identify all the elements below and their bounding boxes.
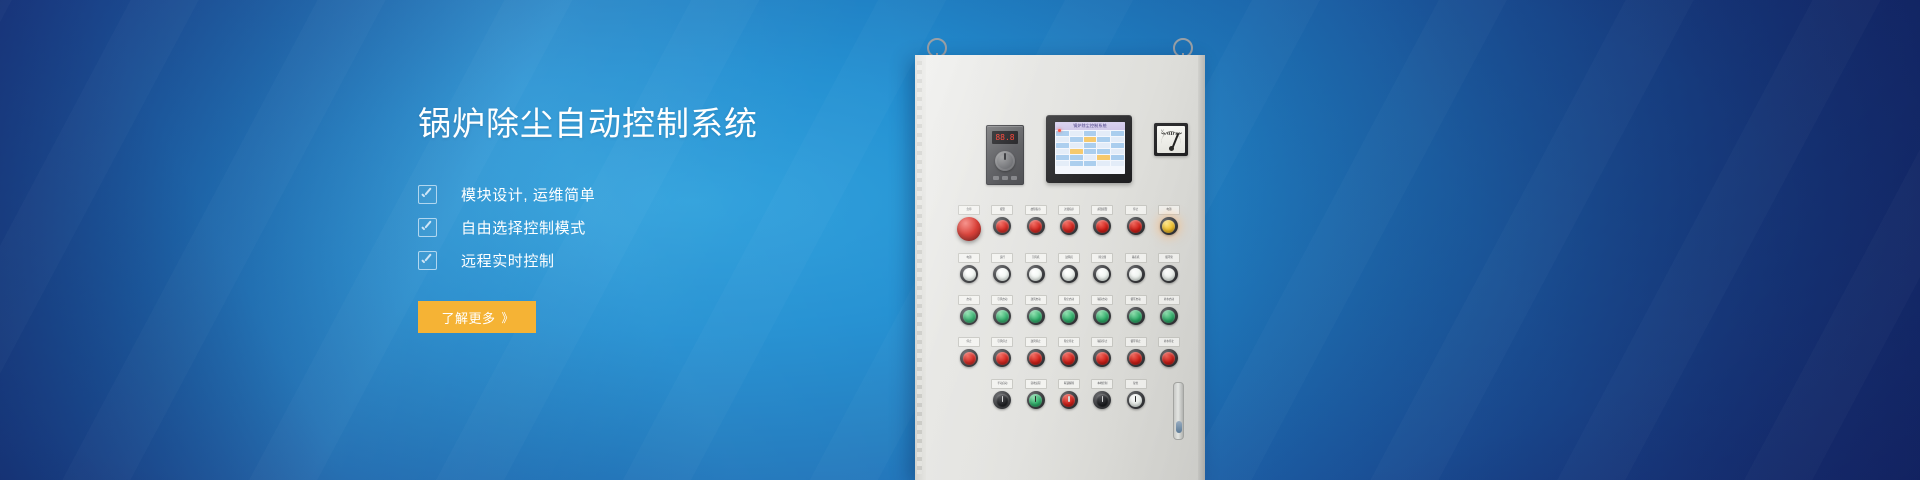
pushbutton-cell: 联锁解除	[1058, 379, 1080, 409]
lamp-cap	[1129, 310, 1142, 323]
pushbutton-cell: 输灰启动	[1091, 295, 1113, 325]
lamp-cap	[1029, 394, 1042, 407]
emergency-stop-button[interactable]	[957, 217, 981, 241]
pushbutton-cell: 报警	[991, 205, 1013, 241]
pushbutton-label: 补水启动	[1158, 295, 1180, 305]
indicator-lamp-button[interactable]	[1127, 217, 1145, 235]
hmi-screen-cell	[1097, 161, 1110, 166]
indicator-lamp-button[interactable]	[1027, 265, 1045, 283]
indicator-lamp-button[interactable]	[1160, 265, 1178, 283]
pushbutton-label: 就地远程	[1025, 379, 1047, 389]
feature-label: 模块设计, 运维简单	[461, 184, 595, 205]
indicator-lamp-button[interactable]	[1060, 265, 1078, 283]
indicator-lamp-button[interactable]	[993, 217, 1011, 235]
cabinet-door-face: 88.8 锅炉除尘控制系统	[926, 55, 1198, 480]
hmi-screen-row	[1056, 143, 1124, 148]
lamp-cap	[1129, 268, 1142, 281]
hmi-screen-cell	[1084, 131, 1097, 136]
lamp-cap	[1096, 220, 1109, 233]
lamp-cap	[996, 220, 1009, 233]
hmi-screen-cell	[1070, 143, 1083, 148]
indicator-lamp-button[interactable]	[1060, 349, 1078, 367]
pushbutton-label: 本地控制	[1091, 379, 1113, 389]
pushbutton-cell: 电源	[1158, 205, 1180, 241]
hmi-screen-cell	[1056, 161, 1069, 166]
lamp-cap	[1096, 310, 1109, 323]
lamp-cap	[1129, 220, 1142, 233]
lamp-cap	[963, 310, 976, 323]
stop-button-row: 停止引风停止鼓风停止除尘停止输灰停止循环停止补水停止	[958, 337, 1180, 367]
pushbutton-label: 引风停止	[991, 337, 1013, 347]
indicator-lamp-button[interactable]	[993, 307, 1011, 325]
lamp-cap	[1062, 220, 1075, 233]
pushbutton-label: 启动	[958, 295, 980, 305]
pushbutton-label: 电源	[1158, 205, 1180, 215]
hmi-screen-cell	[1084, 155, 1097, 160]
checkbox-check-icon	[418, 185, 437, 204]
indicator-lamp-button[interactable]	[993, 349, 1011, 367]
hmi-screen-cell	[1056, 143, 1069, 148]
lamp-cap	[1162, 310, 1175, 323]
indicator-lamp-button[interactable]	[1027, 307, 1045, 325]
cabinet-body: 88.8 锅炉除尘控制系统	[915, 55, 1205, 480]
indicator-lamp-button[interactable]	[960, 307, 978, 325]
indicator-lamp-button[interactable]	[1027, 217, 1045, 235]
hmi-screen-cell	[1070, 161, 1083, 166]
vfd-rotary-knob[interactable]	[995, 151, 1015, 171]
pushbutton-label: 输灰启动	[1091, 295, 1113, 305]
lamp-cap	[1096, 268, 1109, 281]
hmi-screen-cell	[1111, 161, 1124, 166]
pushbutton-label: 输灰机	[1125, 253, 1147, 263]
lamp-cap	[1062, 352, 1075, 365]
learn-more-label: 了解更多	[441, 308, 495, 327]
pushbutton-cell: 停止	[1125, 205, 1147, 241]
pushbutton-label: 联锁解除	[1058, 379, 1080, 389]
pushbutton-cell: 复位	[1125, 379, 1147, 409]
pushbutton-label: 引风机	[1025, 253, 1047, 263]
lamp-cap	[1162, 220, 1175, 233]
hmi-screen-cell	[1084, 137, 1097, 142]
hmi-screen-cell	[1097, 131, 1110, 136]
lamp-cap	[1129, 394, 1142, 407]
hmi-screen-cell	[1097, 155, 1110, 160]
pushbutton-cell: 鼓风停止	[1025, 337, 1047, 367]
lamp-cap	[996, 352, 1009, 365]
vfd-display-module[interactable]: 88.8	[986, 125, 1024, 185]
indicator-lamp-button[interactable]	[1027, 349, 1045, 367]
vfd-value: 88.8	[995, 134, 1014, 142]
pushbutton-cell: 循环启动	[1125, 295, 1147, 325]
feature-item-2: 自由选择控制模式	[418, 211, 938, 244]
indicator-lamp-button[interactable]	[1060, 307, 1078, 325]
indicator-lamp-button[interactable]	[1160, 217, 1178, 235]
selector-switch[interactable]	[1027, 391, 1045, 409]
hmi-screen-cell	[1097, 137, 1110, 142]
analog-meter: V	[1154, 123, 1188, 156]
lamp-cap	[1029, 352, 1042, 365]
indicator-lamp-button[interactable]	[1160, 349, 1178, 367]
lamp-cap	[1162, 268, 1175, 281]
pushbutton-label: 除尘器	[1091, 253, 1113, 263]
lamp-cap	[1062, 394, 1075, 407]
pushbutton-cell: 鼓风机	[1058, 253, 1080, 283]
vfd-button[interactable]	[1011, 176, 1017, 180]
pushbutton-cell: 引风机	[1025, 253, 1047, 283]
pushbutton-cell: 电源	[958, 253, 980, 283]
pushbutton-label: 手动自动	[991, 379, 1013, 389]
lamp-cap	[1029, 310, 1042, 323]
feature-item-3: 远程实时控制	[418, 244, 938, 277]
selector-switch[interactable]	[1127, 391, 1145, 409]
pushbutton-cell: 手动自动	[991, 379, 1013, 409]
indicator-lamp-button[interactable]	[1093, 217, 1111, 235]
power-indicator-row: 电源运行引风机鼓风机除尘器输灰机循环泵	[958, 253, 1180, 283]
lamp-cap	[1062, 268, 1075, 281]
indicator-lamp-button[interactable]	[1093, 307, 1111, 325]
pushbutton-label: 电源	[958, 253, 980, 263]
pushbutton-label: 引风启动	[991, 295, 1013, 305]
start-button-row: 启动引风启动鼓风启动除尘启动输灰启动循环启动补水启动	[958, 295, 1180, 325]
feature-label: 自由选择控制模式	[461, 217, 586, 238]
feature-list: 模块设计, 运维简单 自由选择控制模式 远程实时控制	[418, 178, 938, 277]
vfd-screen: 88.8	[992, 131, 1018, 144]
pushbutton-label: 停止	[958, 337, 980, 347]
indicator-lamp-button[interactable]	[1093, 349, 1111, 367]
lamp-cap	[1062, 310, 1075, 323]
indicator-lamp-button[interactable]	[1127, 307, 1145, 325]
pushbutton-label: 故障指示	[1025, 205, 1047, 215]
pushbutton-cell: 故障指示	[1025, 205, 1047, 241]
pushbutton-label: 鼓风机	[1058, 253, 1080, 263]
hmi-screen-cell	[1111, 137, 1124, 142]
selector-switch[interactable]	[993, 391, 1011, 409]
pushbutton-cell: 急停	[958, 205, 980, 241]
hmi-screen-title: 锅炉除尘控制系统	[1055, 122, 1125, 130]
hmi-screen-cell	[1111, 143, 1124, 148]
pushbutton-label: 运行	[991, 253, 1013, 263]
feature-item-1: 模块设计, 运维简单	[418, 178, 938, 211]
meter-hub	[1169, 146, 1174, 151]
hmi-screen-row	[1056, 155, 1124, 160]
pushbutton-label: 停止	[1125, 205, 1147, 215]
hmi-screen-cell	[1097, 143, 1110, 148]
hmi-screen-row	[1056, 131, 1124, 136]
pushbutton-label: 循环泵	[1158, 253, 1180, 263]
lamp-cap	[1129, 352, 1142, 365]
meter-tick	[1179, 132, 1182, 134]
pushbutton-cell: 鼓风启动	[1025, 295, 1047, 325]
pushbutton-label: 过载指示	[1058, 205, 1080, 215]
pushbutton-label: 复位	[1125, 379, 1147, 389]
pushbutton-cell: 本地控制	[1091, 379, 1113, 409]
pushbutton-cell: 除尘停止	[1058, 337, 1080, 367]
pushbutton-label: 除尘启动	[1058, 295, 1080, 305]
pushbutton-label: 补水停止	[1158, 337, 1180, 347]
pushbutton-label: 报警	[991, 205, 1013, 215]
selector-switch[interactable]	[1093, 391, 1111, 409]
indicator-lamp-button[interactable]	[1127, 349, 1145, 367]
lamp-cap	[1096, 352, 1109, 365]
indicator-lamp-button[interactable]	[1060, 217, 1078, 235]
pushbutton-label: 循环停止	[1125, 337, 1147, 347]
pushbutton-cell: 循环停止	[1125, 337, 1147, 367]
pushbutton-label: 鼓风启动	[1025, 295, 1047, 305]
indicator-lamp-button[interactable]	[1127, 265, 1145, 283]
indicator-lamp-button[interactable]	[960, 265, 978, 283]
pushbutton-cell: 引风停止	[991, 337, 1013, 367]
lamp-cap	[963, 352, 976, 365]
pushbutton-cell: 超温报警	[1091, 205, 1113, 241]
hmi-screen-cell	[1070, 155, 1083, 160]
indicator-lamp-button[interactable]	[993, 265, 1011, 283]
meter-tick	[1168, 132, 1170, 135]
lamp-cap	[1029, 268, 1042, 281]
hmi-screen-body	[1055, 130, 1125, 174]
pushbutton-cell: 引风启动	[991, 295, 1013, 325]
selector-switch-row: 手动自动就地远程联锁解除本地控制复位	[958, 379, 1180, 409]
pushbutton-cell: 补水启动	[1158, 295, 1180, 325]
learn-more-button[interactable]: 了解更多 》	[418, 301, 536, 333]
pushbutton-label: 循环启动	[1125, 295, 1147, 305]
hmi-screen-cell	[1056, 137, 1069, 142]
cabinet-right-edge	[1198, 55, 1205, 480]
pushbutton-cell: 除尘器	[1091, 253, 1113, 283]
hmi-touchscreen[interactable]: 锅炉除尘控制系统	[1046, 115, 1132, 183]
checkbox-check-icon	[418, 218, 437, 237]
pushbutton-cell: 输灰停止	[1091, 337, 1113, 367]
hmi-screen-cell	[1111, 155, 1124, 160]
hmi-screen-row	[1056, 137, 1124, 142]
checkbox-check-icon	[418, 251, 437, 270]
hero-banner: 锅炉除尘自动控制系统 模块设计, 运维简单 自由选择控制模式 远程实时控制 了解…	[0, 0, 1920, 480]
indicator-lamp-button[interactable]	[1093, 265, 1111, 283]
vfd-button-strip[interactable]	[993, 176, 1017, 180]
feature-label: 远程实时控制	[461, 250, 555, 271]
vfd-button[interactable]	[1002, 176, 1008, 180]
hmi-screen-row	[1056, 161, 1124, 166]
lamp-cap	[996, 310, 1009, 323]
vfd-button[interactable]	[993, 176, 999, 180]
hmi-screen-cell	[1070, 131, 1083, 136]
pushbutton-cell: 输灰机	[1125, 253, 1147, 283]
pushbutton-cell: 过载指示	[1058, 205, 1080, 241]
pushbutton-cell: 除尘启动	[1058, 295, 1080, 325]
control-cabinet: 88.8 锅炉除尘控制系统	[905, 38, 1225, 480]
pushbutton-grid: 急停报警故障指示过载指示超温报警停止电源电源运行引风机鼓风机除尘器输灰机循环泵启…	[958, 205, 1180, 421]
pushbutton-cell: 循环泵	[1158, 253, 1180, 283]
power-led-icon	[1058, 129, 1061, 132]
pushbutton-label: 超温报警	[1091, 205, 1113, 215]
chevron-right-icon: 》	[502, 309, 513, 326]
pushbutton-cell: 运行	[991, 253, 1013, 283]
cabinet-hinge-strip	[915, 55, 926, 480]
lamp-cap	[1029, 220, 1042, 233]
emergency-and-alarm-row: 急停报警故障指示过载指示超温报警停止电源	[958, 205, 1180, 241]
pushbutton-label: 鼓风停止	[1025, 337, 1047, 347]
meter-face: V	[1157, 126, 1185, 153]
hmi-screen-cell	[1070, 149, 1083, 154]
hmi-screen-cell	[1111, 149, 1124, 154]
pushbutton-cell: 就地远程	[1025, 379, 1047, 409]
hmi-screen-cell	[1111, 131, 1124, 136]
hmi-screen-cell	[1097, 149, 1110, 154]
indicator-lamp-button[interactable]	[1160, 307, 1178, 325]
hmi-screen-row	[1056, 149, 1124, 154]
lamp-cap	[1096, 394, 1109, 407]
lamp-cap	[996, 268, 1009, 281]
hmi-screen-cell	[1084, 161, 1097, 166]
page-title: 锅炉除尘自动控制系统	[418, 104, 938, 144]
pushbutton-cell: 补水停止	[1158, 337, 1180, 367]
hmi-screen-cell	[1084, 143, 1097, 148]
cabinet-door-handle[interactable]	[1173, 382, 1184, 440]
selector-switch[interactable]	[1060, 391, 1078, 409]
hmi-screen-cell	[1056, 149, 1069, 154]
lamp-cap	[996, 394, 1009, 407]
hmi-screen-cell	[1084, 149, 1097, 154]
pushbutton-label: 输灰停止	[1091, 337, 1113, 347]
lamp-cap	[1162, 352, 1175, 365]
pushbutton-cell: 启动	[958, 295, 980, 325]
hero-copy-block: 锅炉除尘自动控制系统 模块设计, 运维简单 自由选择控制模式 远程实时控制 了解…	[418, 104, 938, 333]
pushbutton-cell: 停止	[958, 337, 980, 367]
lamp-cap	[963, 268, 976, 281]
pushbutton-label: 急停	[958, 205, 980, 215]
hmi-screen[interactable]: 锅炉除尘控制系统	[1055, 122, 1125, 174]
indicator-lamp-button[interactable]	[960, 349, 978, 367]
pushbutton-label: 除尘停止	[1058, 337, 1080, 347]
hmi-screen-cell	[1070, 137, 1083, 142]
hmi-screen-cell	[1056, 155, 1069, 160]
